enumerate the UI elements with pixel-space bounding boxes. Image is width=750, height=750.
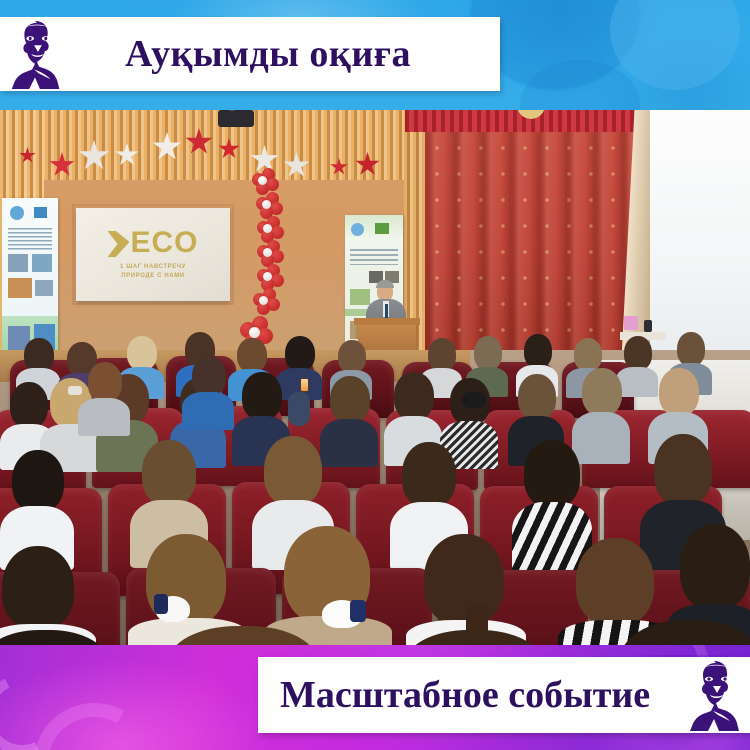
audience-person <box>406 534 526 645</box>
decorative-blob <box>610 0 740 90</box>
abai-portrait-icon <box>4 19 70 89</box>
audience-person <box>78 362 130 432</box>
podium-top <box>354 318 420 325</box>
poster-text-block <box>8 228 52 250</box>
poster-logo-icon <box>10 206 24 220</box>
top-title-banner: Ауқымды оқиға <box>0 17 500 91</box>
top-banner-headline: Ауқымды оқиға <box>76 35 500 73</box>
eco-tagline-line1: 1 ШАГ НАВСТРЕЧУ <box>76 263 230 272</box>
balloon-flower <box>253 290 281 318</box>
rollup-logo-icon <box>375 223 389 234</box>
sill-object <box>624 316 638 330</box>
rollup-text-block <box>350 249 398 265</box>
eco-leaf-mark <box>107 231 129 257</box>
poster-photo <box>32 254 52 272</box>
audience-person <box>182 356 234 426</box>
bottom-banner-headline: Масштабное событие <box>280 676 678 714</box>
bottom-title-banner: Масштабное событие <box>258 657 750 733</box>
poster-photo <box>35 280 53 296</box>
raised-arm <box>288 392 310 426</box>
eco-logo-text: ECO <box>130 228 198 258</box>
poster-canvas: Ауқымды оқиға <box>0 0 750 750</box>
rollup-logo-icon <box>351 223 364 236</box>
projection-screen: ECO 1 ШАГ НАВСТРЕЧУ ПРИРОДЕ С НАМИ <box>76 208 230 301</box>
poster-photo <box>8 254 28 272</box>
eco-tagline-line2: ПРИРОДЕ С НАМИ <box>76 272 230 281</box>
poster-logo-icon <box>34 207 47 218</box>
audience-person <box>264 526 392 645</box>
sill-object <box>644 320 652 332</box>
red-stage-curtain <box>425 110 643 360</box>
poster-photo <box>8 278 32 298</box>
projector <box>218 110 254 127</box>
abai-portrait-icon <box>682 659 750 731</box>
event-photograph: ECO 1 ШАГ НАВСТРЕЧУ ПРИРОДЕ С НАМИ <box>0 110 750 645</box>
smartphone <box>300 378 309 392</box>
